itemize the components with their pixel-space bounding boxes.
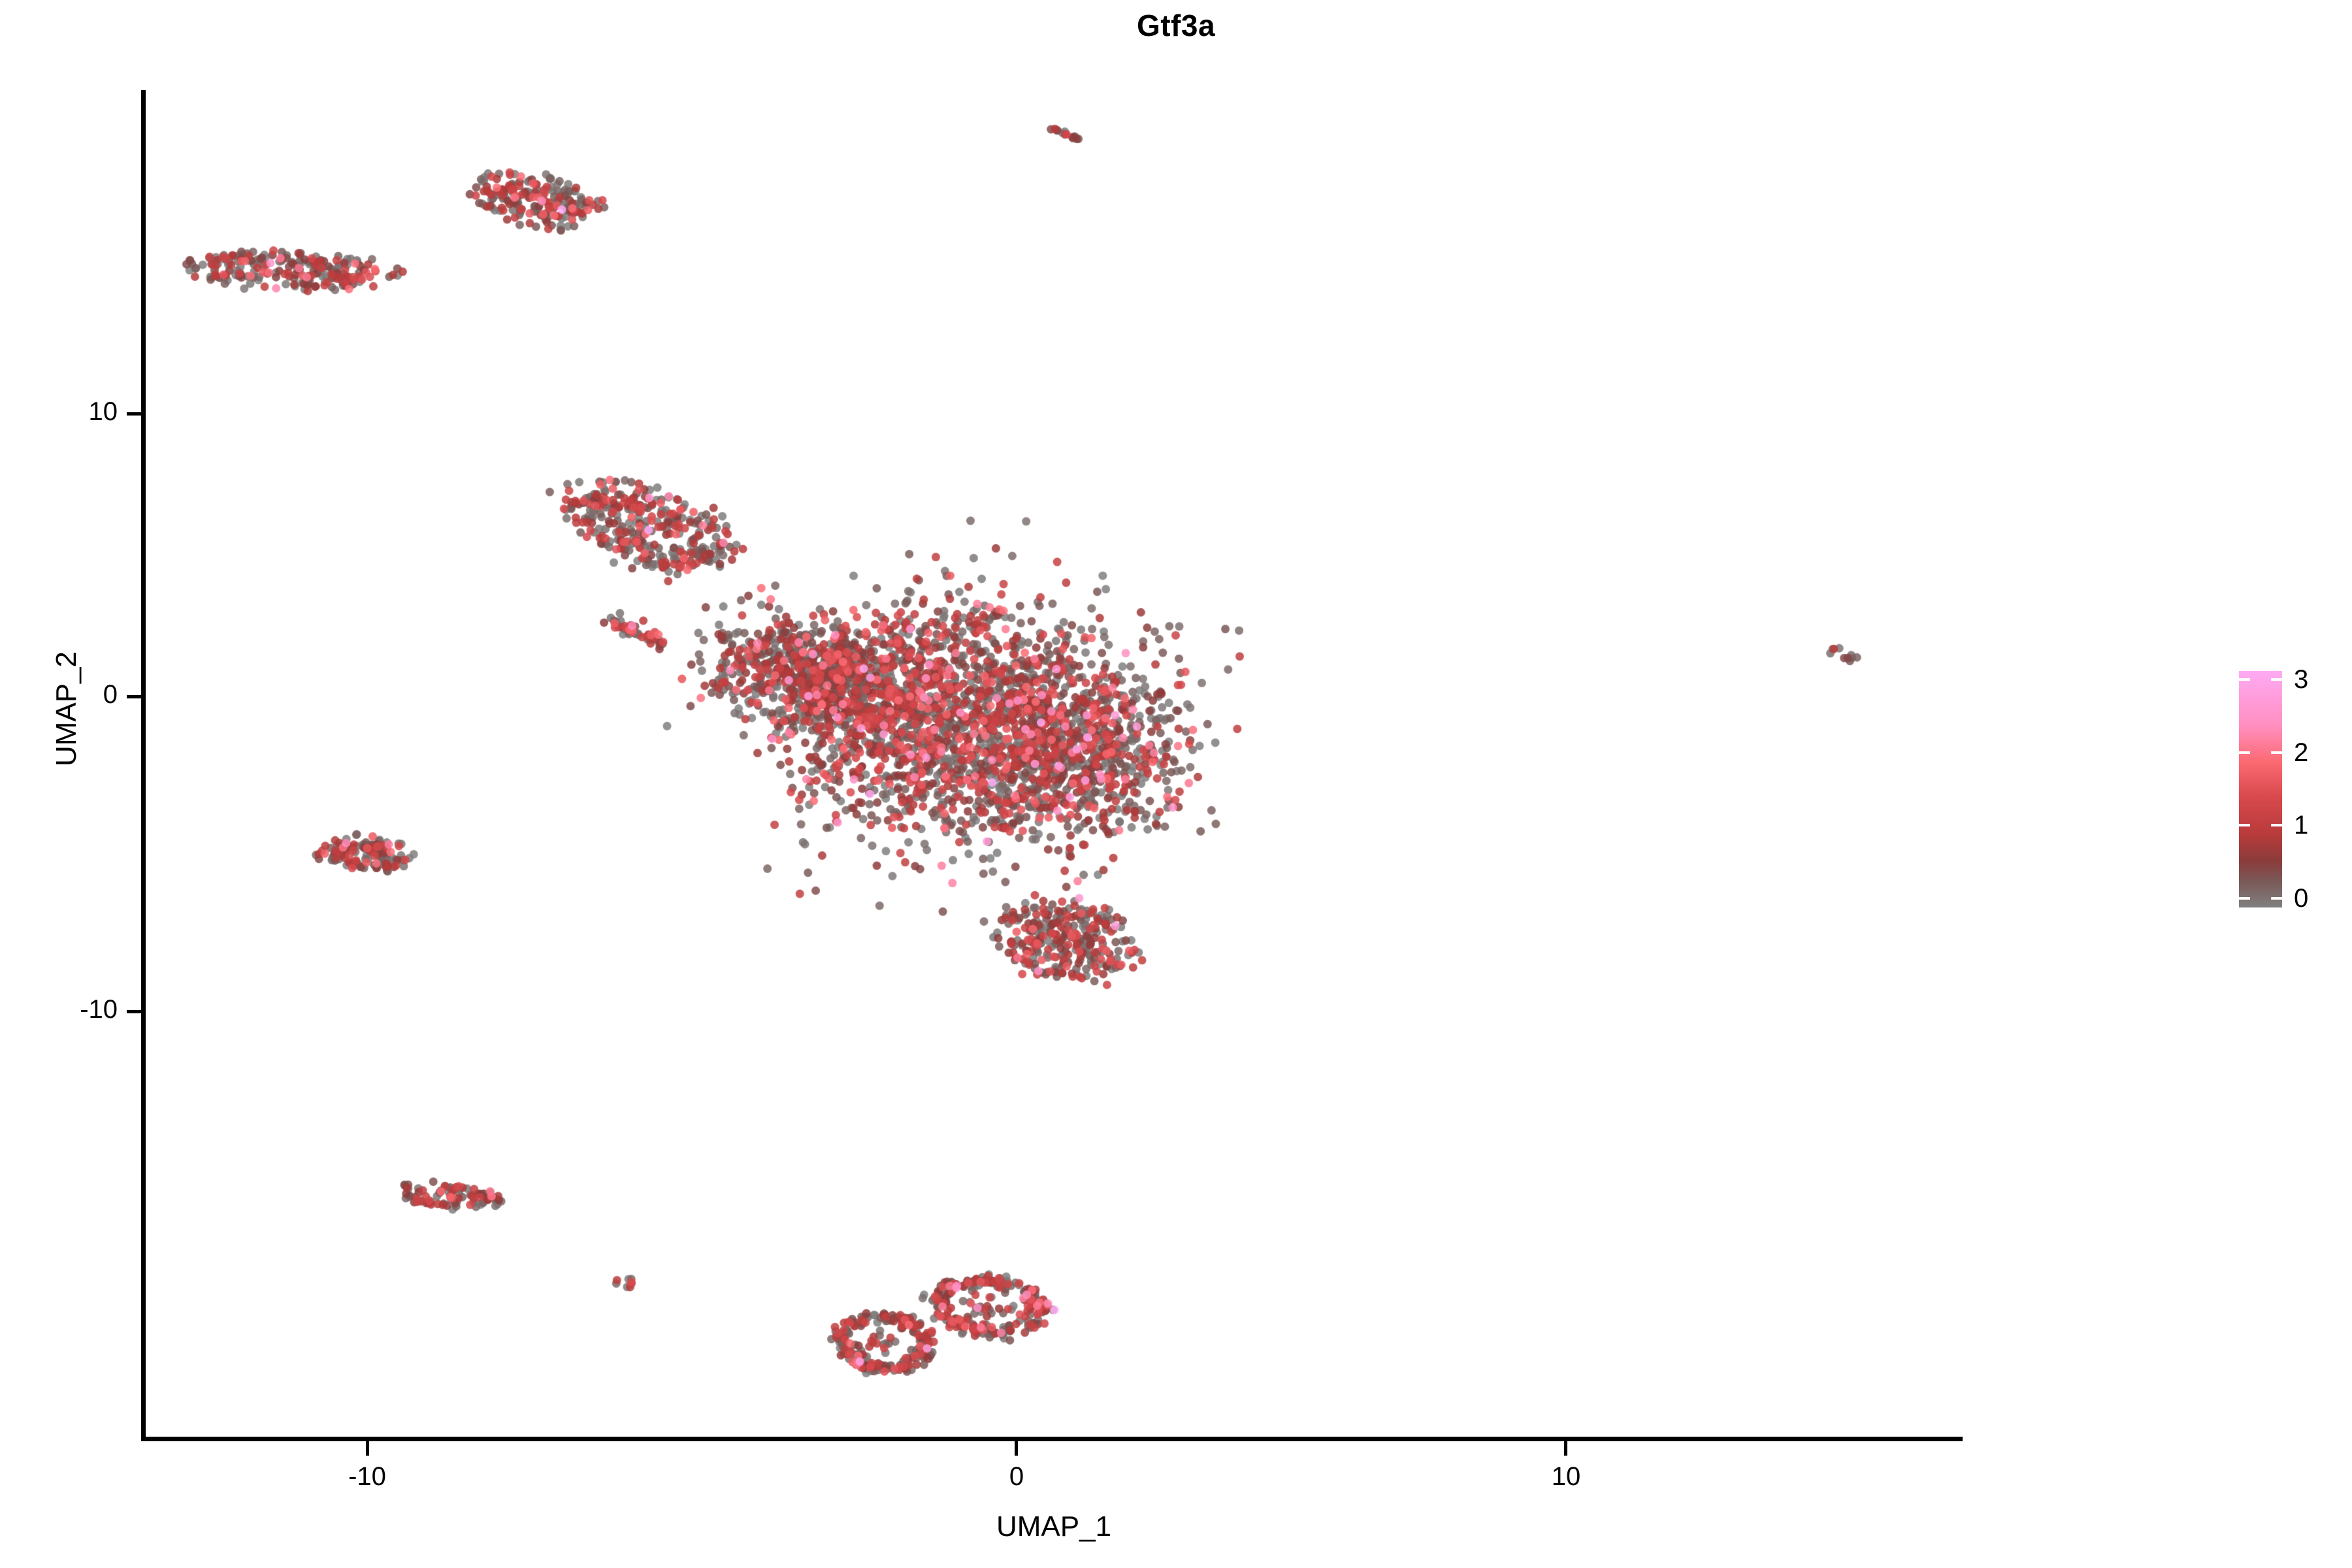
feature-plot-figure: Gtf3a 10 0 -10 -10 0 10 UMAP_1 UMAP_2 3 <box>0 0 2352 1568</box>
x-axis-line <box>145 1437 1963 1441</box>
plot-panel <box>145 90 1963 1439</box>
legend-colorbar: 3 2 1 0 <box>2239 671 2337 913</box>
y-tick-mark--10 <box>127 1010 141 1013</box>
colorbar-label-2: 2 <box>2294 740 2308 766</box>
x-tick-label-10: 10 <box>1501 1462 1631 1492</box>
scatter-points-canvas <box>145 90 1963 1439</box>
y-tick-mark-10 <box>127 412 141 416</box>
colorbar-label-1: 1 <box>2294 812 2308 838</box>
y-axis-title: UMAP_2 <box>50 480 83 938</box>
page-title: Gtf3a <box>0 8 2352 43</box>
x-tick-mark-10 <box>1564 1441 1567 1456</box>
x-tick-label--10: -10 <box>302 1462 433 1492</box>
y-axis-line <box>141 90 146 1441</box>
colorbar-gradient <box>2239 671 2282 907</box>
y-tick-mark-0 <box>127 695 141 698</box>
x-tick-mark-0 <box>1015 1441 1018 1456</box>
x-axis-title: UMAP_1 <box>145 1511 1963 1543</box>
colorbar-label-0: 0 <box>2294 885 2308 911</box>
y-tick-label--10: -10 <box>7 995 118 1024</box>
y-tick-label-10: 10 <box>7 397 118 427</box>
x-tick-label-0: 0 <box>951 1462 1082 1492</box>
colorbar-label-3: 3 <box>2294 666 2308 693</box>
x-tick-mark--10 <box>366 1441 369 1456</box>
